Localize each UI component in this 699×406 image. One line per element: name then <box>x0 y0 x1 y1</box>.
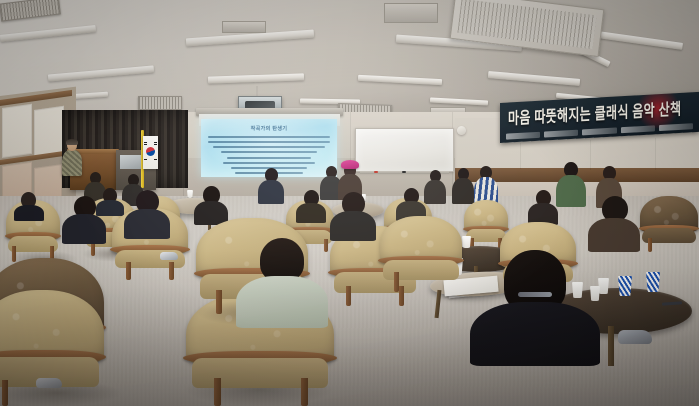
paper-cup <box>187 190 193 198</box>
striped-paper-cup <box>618 276 632 296</box>
attendee-body <box>14 205 44 221</box>
whiteboard <box>355 128 454 172</box>
attendee <box>588 196 640 248</box>
attendee-body <box>470 302 600 366</box>
shoe <box>618 330 652 344</box>
presenter-jacket <box>62 150 82 176</box>
ceiling-vent <box>222 21 266 33</box>
left-wall-panel <box>34 106 64 158</box>
chair-leg <box>346 286 351 306</box>
attendee <box>330 192 376 238</box>
chair-leg <box>214 378 221 406</box>
pink-hat <box>341 160 359 169</box>
attendee <box>194 186 228 222</box>
attendee <box>452 168 474 202</box>
attendee-body <box>330 211 376 241</box>
cream-fleece-attendee <box>236 238 328 320</box>
attendee <box>528 190 558 222</box>
presenter <box>62 140 84 180</box>
chair-leg <box>648 238 652 252</box>
korean-flag <box>143 136 158 169</box>
chair-leg <box>301 378 308 406</box>
green-sweater-attendee <box>556 162 586 206</box>
ceiling-vent <box>138 96 182 110</box>
hair-clip <box>518 292 552 297</box>
chair-leg <box>394 272 399 292</box>
slide-body-line <box>221 151 317 153</box>
whiteboard-marker <box>402 171 406 173</box>
attendee <box>14 192 44 218</box>
wall-tile-seam <box>590 140 591 170</box>
slide-title: 작곡가의 탄생기 <box>201 125 337 132</box>
chair-leg <box>2 380 8 406</box>
chair <box>640 196 698 252</box>
slide-body-line <box>223 162 315 164</box>
left-wall-panel <box>2 104 32 158</box>
attendee-body <box>588 218 640 252</box>
attendee <box>62 196 106 240</box>
attendee-body <box>124 209 170 239</box>
slide-body-line <box>213 146 325 148</box>
wall-tile-seam <box>520 143 521 169</box>
slide-body-line <box>227 157 311 159</box>
attendee-body <box>62 214 106 244</box>
attendee <box>296 190 326 220</box>
wall-tile-seam <box>655 138 656 170</box>
paper-cup <box>462 236 471 248</box>
attendee-body <box>258 180 284 204</box>
attendee <box>258 168 284 202</box>
attendee-body <box>556 175 586 207</box>
chair-leg <box>91 242 95 256</box>
ceiling-vent <box>384 3 438 23</box>
seminar-room-photo: 마음 따뜻해지는 클래식 음악 산책 작곡가의 탄생기 <box>0 0 699 406</box>
shoe <box>160 252 178 260</box>
table-leg <box>608 326 614 366</box>
striped-paper-cup <box>646 272 660 292</box>
attendee-body <box>236 276 328 328</box>
chair-leg <box>126 262 131 280</box>
foreground-black-coat-attendee <box>470 250 600 356</box>
presenter-hair <box>66 139 78 145</box>
shoe <box>36 378 62 388</box>
attendee <box>396 188 426 218</box>
striped-shirt-attendee <box>474 166 498 204</box>
chair-leg <box>169 262 174 280</box>
wall-clock <box>457 126 466 135</box>
whiteboard-marker <box>374 171 378 173</box>
chair-leg <box>216 290 222 314</box>
attendee <box>124 190 170 236</box>
chair <box>380 216 462 292</box>
chair <box>0 290 104 406</box>
slide-body-line <box>208 141 330 143</box>
slide-body-line <box>208 136 330 138</box>
taeguk-symbol <box>146 147 155 156</box>
